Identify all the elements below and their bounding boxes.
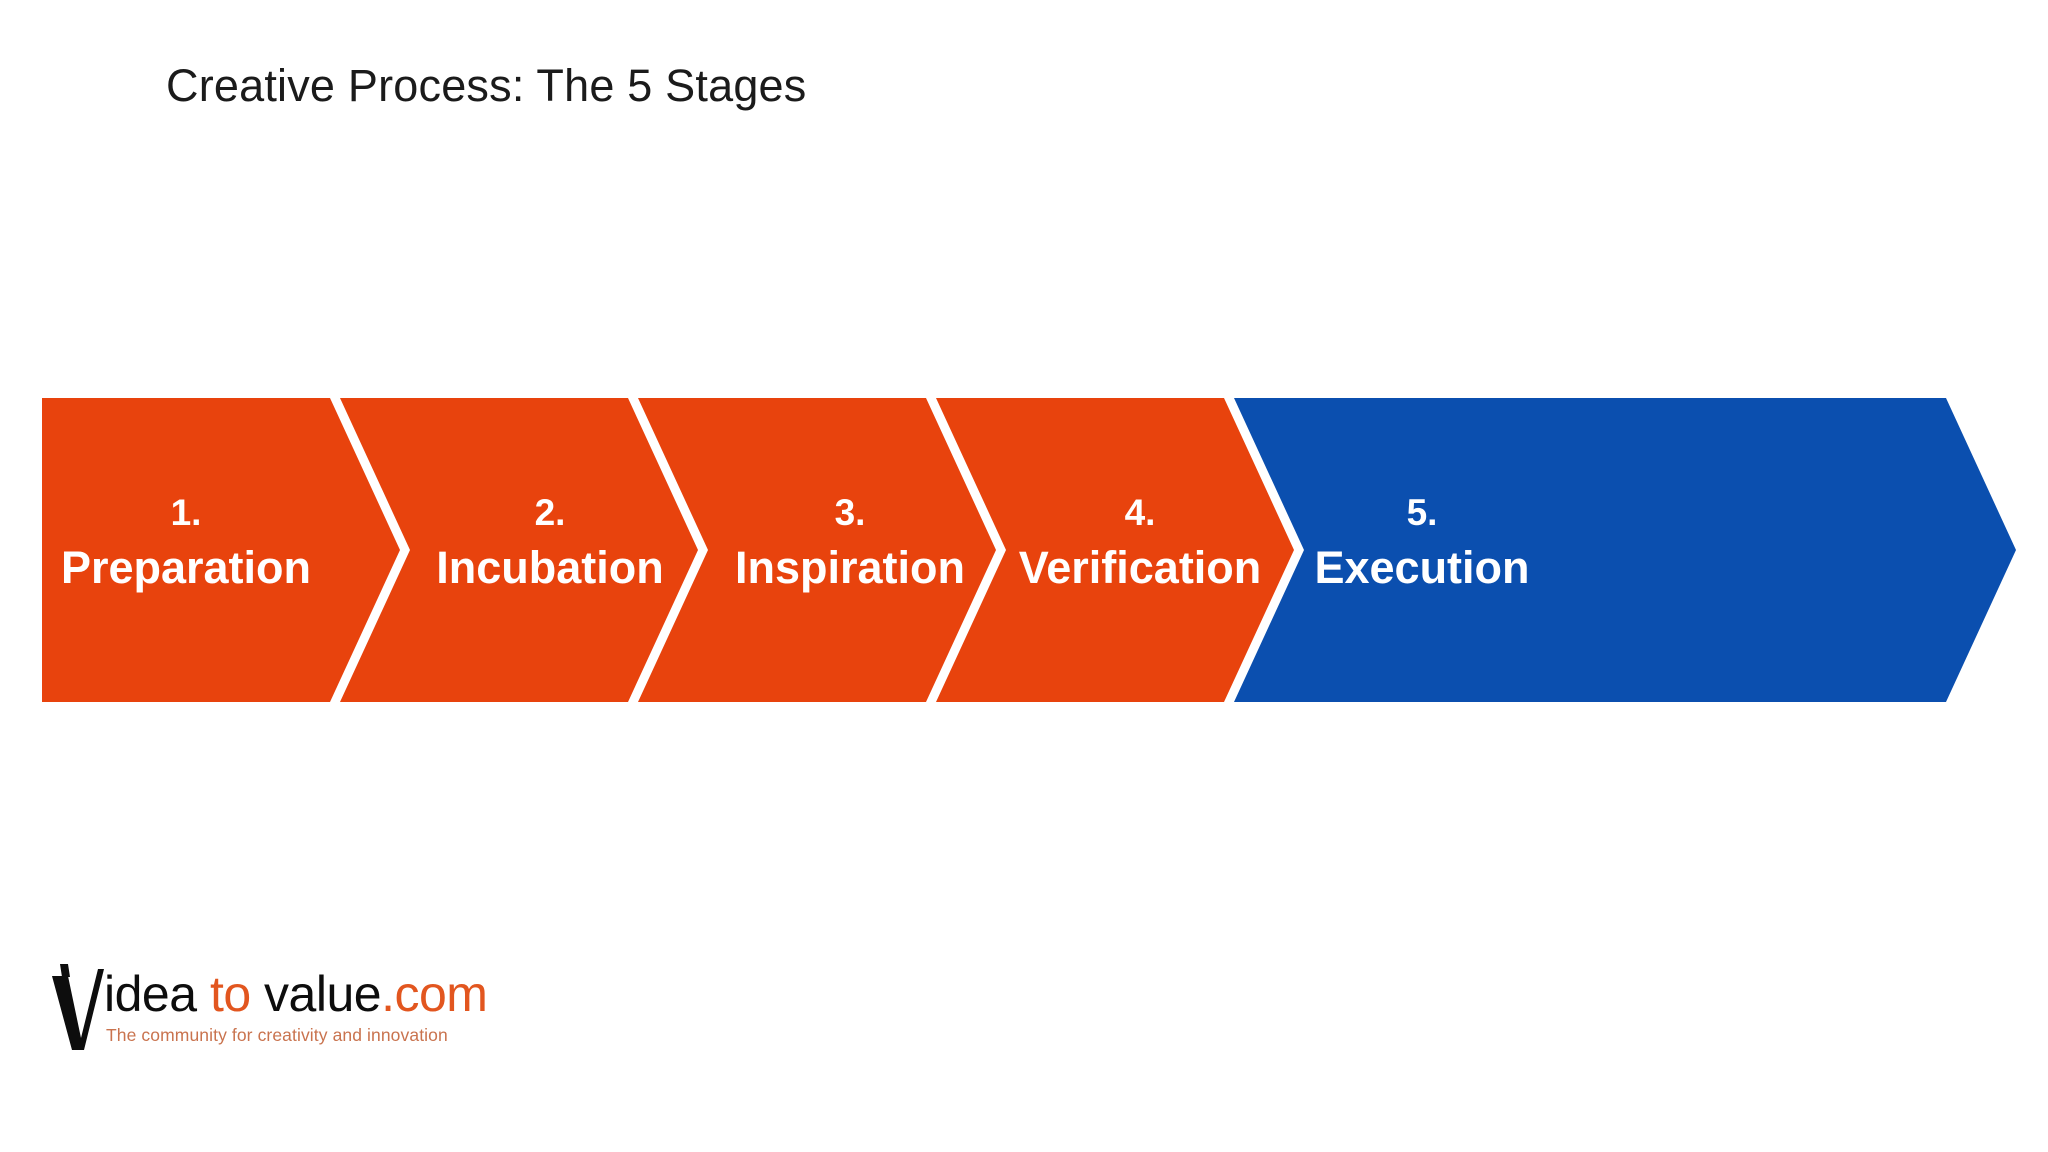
page-title: Creative Process: The 5 Stages (166, 58, 806, 114)
site-logo[interactable]: idea to value.com The community for crea… (48, 962, 508, 1058)
chevron-shapes (0, 398, 2048, 702)
logo-tagline: The community for creativity and innovat… (106, 1024, 448, 1046)
v-checkmark-icon (48, 964, 104, 1050)
logo-word-value: value (264, 966, 381, 1022)
chevron-shape-1[interactable] (42, 398, 400, 702)
slide-canvas: Creative Process: The 5 Stages 1. Prepar… (0, 0, 2048, 1152)
logo-wordmark: idea to value.com (104, 962, 487, 1026)
chevron-process-diagram (0, 398, 2048, 702)
logo-word-dotcom: .com (381, 966, 487, 1022)
logo-word-idea: idea (104, 966, 210, 1022)
chevron-shape-5[interactable] (1234, 398, 2016, 702)
logo-word-to: to (210, 966, 264, 1022)
